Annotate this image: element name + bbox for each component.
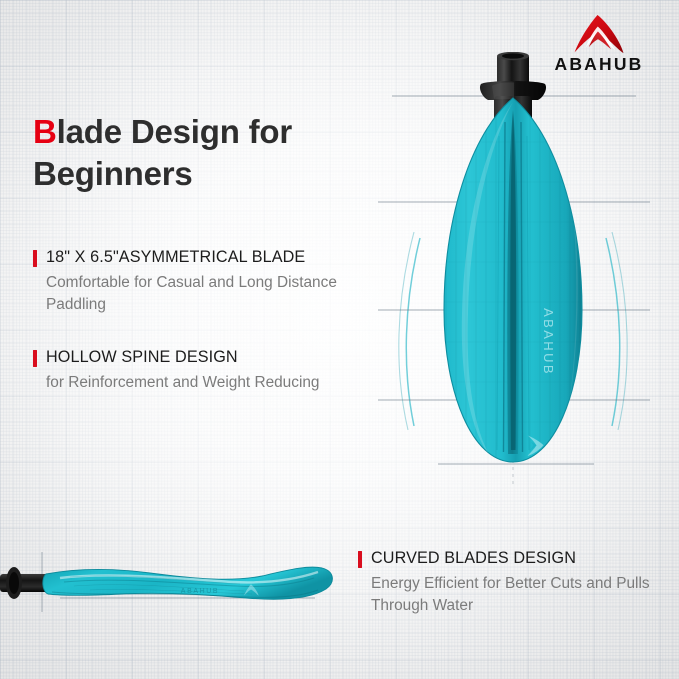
side-blade-body: ABAHUB — [43, 567, 333, 599]
feature-curved-blades: CURVED BLADES DESIGN Energy Efficient fo… — [358, 549, 658, 617]
feature-heading-row: HOLLOW SPINE DESIGN — [33, 348, 393, 368]
feature-heading-row: 18" X 6.5"ASYMMETRICAL BLADE — [33, 248, 368, 268]
blade-brand-text: ABAHUB — [541, 308, 556, 376]
headline-accent-letter: B — [33, 113, 57, 150]
headline-line-2: Beginners — [33, 155, 193, 192]
paddle-blade-side-view: ABAHUB — [0, 520, 345, 655]
bullet-bar-icon — [33, 250, 37, 267]
page-title: Blade Design for Beginners — [33, 111, 363, 194]
paddle-blade-front-view: ABAHUB — [368, 52, 658, 502]
feature-subtitle: Energy Efficient for Better Cuts and Pul… — [358, 573, 658, 617]
feature-heading-row: CURVED BLADES DESIGN — [358, 549, 658, 569]
feature-subtitle: Comfortable for Casual and Long Distance… — [33, 272, 368, 316]
feature-asymmetrical-blade: 18" X 6.5"ASYMMETRICAL BLADE Comfortable… — [33, 248, 368, 316]
feature-subtitle: for Reinforcement and Weight Reducing — [33, 372, 393, 394]
abahub-chevron-icon — [571, 14, 627, 54]
headline-line-1: lade Design for — [57, 113, 292, 150]
bullet-bar-icon — [33, 350, 37, 367]
bullet-bar-icon — [358, 551, 362, 568]
feature-hollow-spine: HOLLOW SPINE DESIGN for Reinforcement an… — [33, 348, 393, 394]
feature-title: CURVED BLADES DESIGN — [371, 549, 576, 569]
blade-body: ABAHUB — [438, 98, 588, 467]
infographic-poster: ABAHUB Blade Design for Beginners 18" X … — [0, 0, 679, 679]
feature-title: HOLLOW SPINE DESIGN — [46, 348, 238, 368]
side-blade-brand-text: ABAHUB — [181, 588, 219, 595]
feature-title: 18" X 6.5"ASYMMETRICAL BLADE — [46, 248, 305, 268]
